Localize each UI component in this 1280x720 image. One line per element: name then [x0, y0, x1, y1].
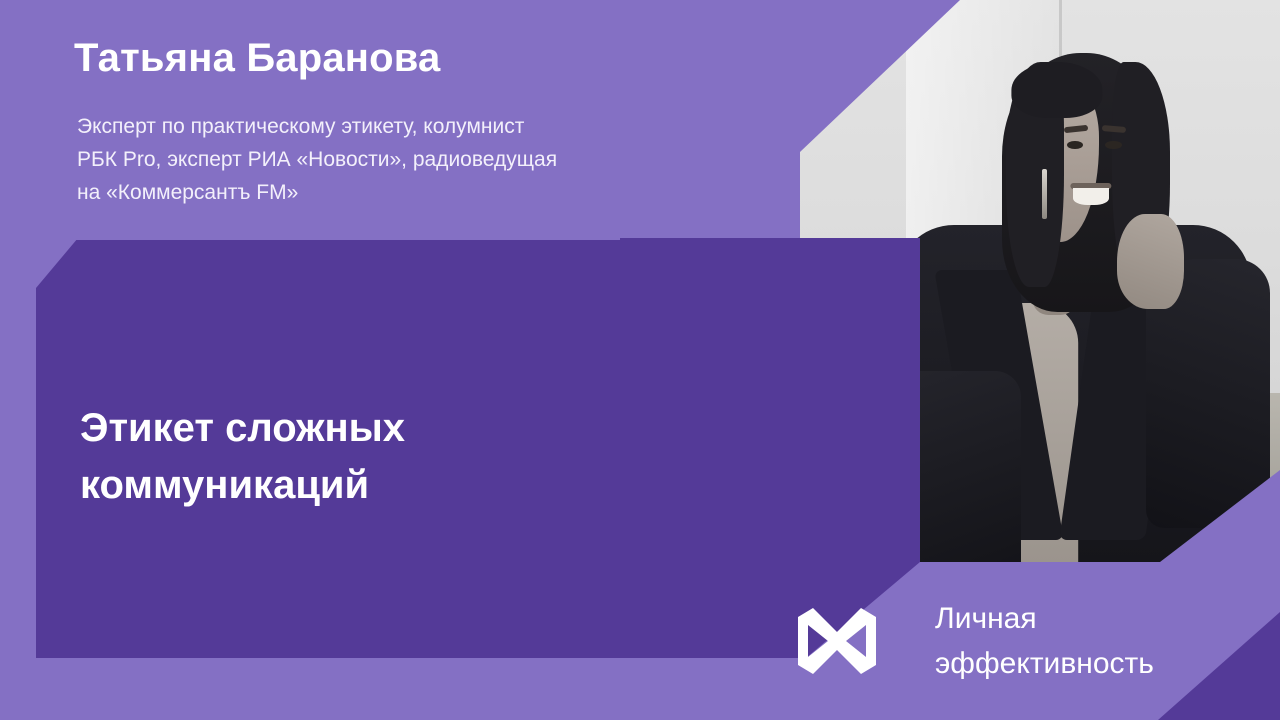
bowtie-logo-icon [795, 608, 879, 674]
eye-left [1067, 141, 1083, 149]
brand-name-line-2: эффективность [935, 641, 1154, 686]
speaker-name: Татьяна Баранова [74, 36, 441, 80]
brand-name: Личная эффективность [935, 596, 1154, 686]
eye-right [1105, 141, 1121, 149]
hair-fringe [1011, 62, 1102, 118]
earring [1042, 169, 1047, 220]
talk-title-line-1: Этикет сложных [80, 400, 680, 457]
smile [1073, 188, 1109, 205]
brand-name-line-1: Личная [935, 596, 1154, 641]
bottom-right-corner-accent [1158, 612, 1280, 720]
talk-title: Этикет сложных коммуникаций [80, 400, 680, 514]
speaker-bio-line-2: РБК Pro, эксперт РИА «Новости», радиовед… [77, 143, 717, 176]
speaker-bio-line-1: Эксперт по практическому этикету, колумн… [77, 110, 717, 143]
presentation-slide: Татьяна Баранова Эксперт по практическом… [0, 0, 1280, 720]
speaker-bio: Эксперт по практическому этикету, колумн… [77, 110, 717, 210]
speaker-bio-line-3: на «Коммерсантъ FM» [77, 176, 717, 209]
brand-lockup: Личная эффективность [795, 596, 1154, 686]
hand-on-chin [1117, 214, 1184, 310]
talk-title-line-2: коммуникаций [80, 457, 680, 514]
